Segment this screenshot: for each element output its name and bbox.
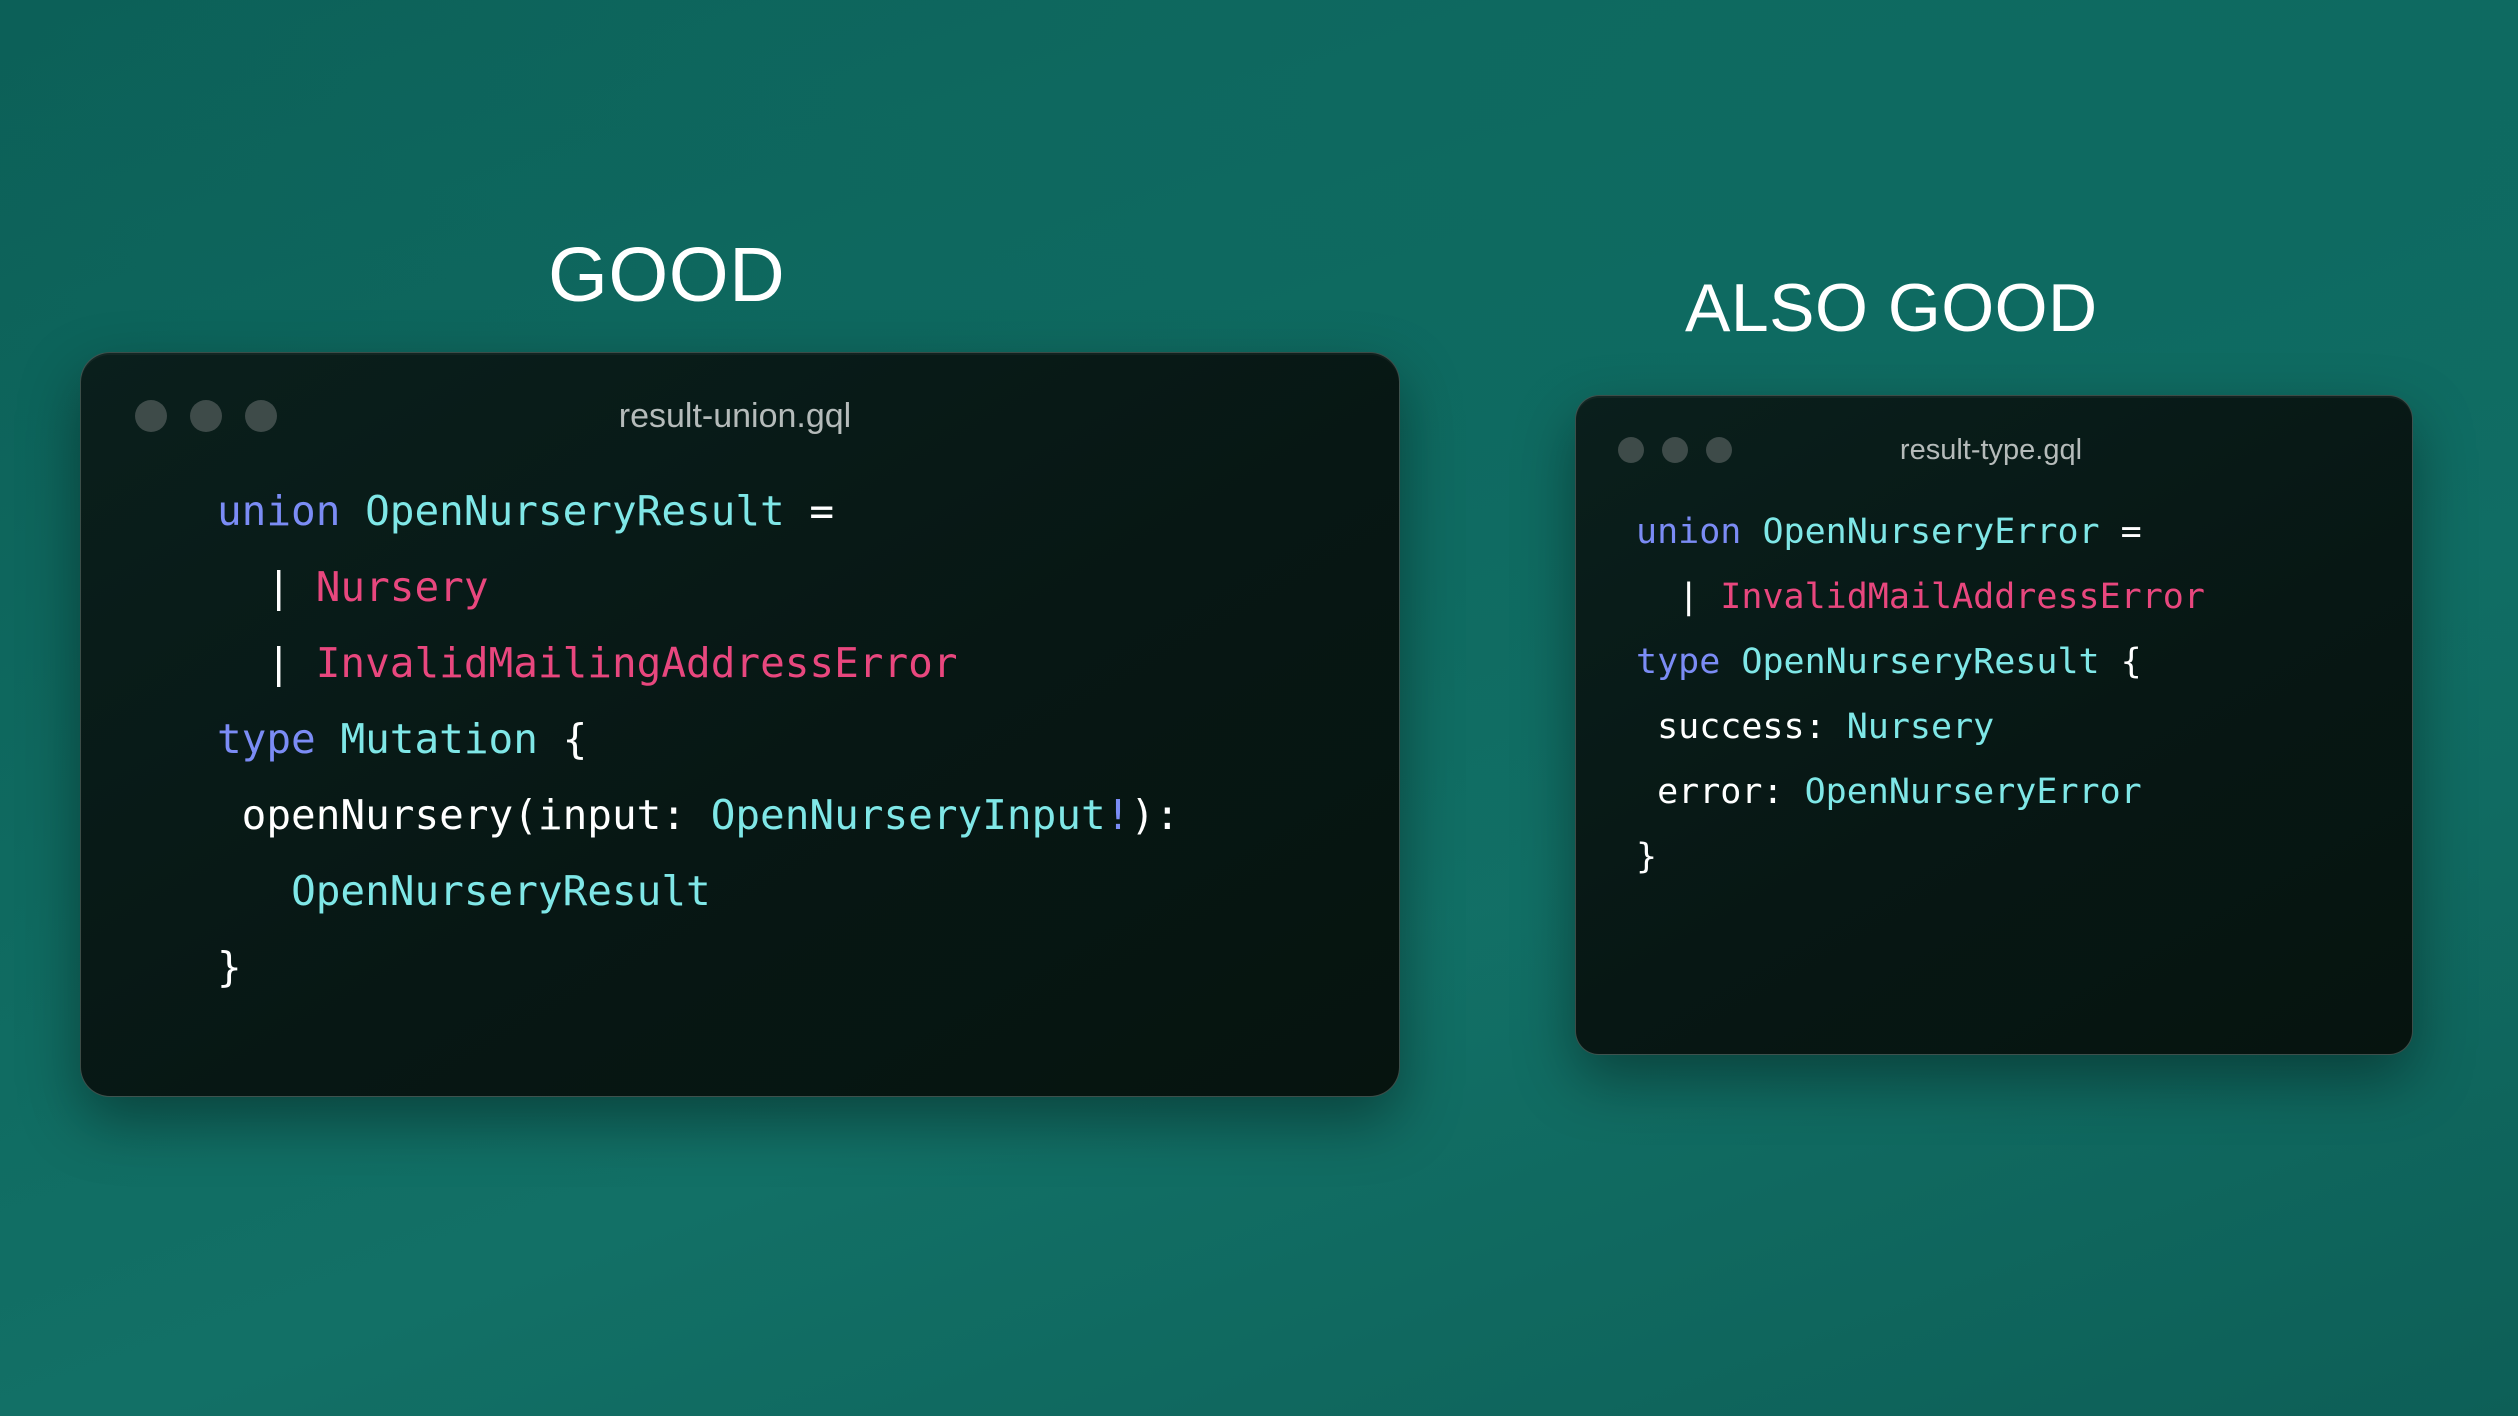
code-token: ! [1106, 791, 1131, 839]
code-token: | [217, 563, 316, 611]
code-token: { [538, 715, 587, 763]
code-token: InvalidMailingAddressError [316, 639, 958, 687]
window-maximize-dot-icon[interactable] [1706, 437, 1732, 463]
code-token: ): [1130, 791, 1179, 839]
code-token: OpenNurseryError [1762, 512, 2099, 552]
code-card-titlebar: result-type.gql [1576, 396, 2412, 504]
panel-heading-good: GOOD [548, 237, 785, 314]
code-line: | InvalidMailAddressError [1636, 565, 2412, 630]
code-line: error: OpenNurseryError [1636, 760, 2412, 825]
code-card-filename: result-union.gql [81, 397, 1399, 436]
code-token: Nursery [316, 563, 489, 611]
code-token [1741, 512, 1762, 552]
window-maximize-dot-icon[interactable] [245, 400, 277, 432]
code-line: | Nursery [217, 549, 1399, 625]
code-token: = [2100, 512, 2142, 552]
code-line: } [217, 929, 1399, 1005]
code-token [1720, 642, 1741, 682]
code-token: openNursery(input: [217, 791, 711, 839]
code-token: | [1636, 577, 1720, 617]
code-token: OpenNurseryResult [365, 487, 785, 535]
code-line: success: Nursery [1636, 695, 2412, 760]
code-token: OpenNurseryInput [711, 791, 1106, 839]
code-token: union [217, 487, 340, 535]
code-card-also-good: result-type.gql union OpenNurseryError =… [1575, 395, 2413, 1055]
code-token: OpenNurseryResult [1741, 642, 2099, 682]
code-token: type [217, 715, 316, 763]
code-token: error: [1636, 772, 1805, 812]
code-token: Mutation [340, 715, 537, 763]
code-token: union [1636, 512, 1741, 552]
code-token: OpenNurseryError [1805, 772, 2142, 812]
code-token: { [2100, 642, 2142, 682]
panel-heading-also-good: ALSO GOOD [1685, 274, 2098, 342]
code-token: type [1636, 642, 1720, 682]
code-line: OpenNurseryResult [217, 853, 1399, 929]
slide-canvas: GOOD result-union.gql union OpenNurseryR… [0, 0, 2518, 1416]
code-line: } [1636, 825, 2412, 890]
code-token: Nursery [1847, 707, 1995, 747]
code-token: } [217, 943, 242, 991]
window-close-dot-icon[interactable] [1618, 437, 1644, 463]
code-line: openNursery(input: OpenNurseryInput!): [217, 777, 1399, 853]
code-line: type OpenNurseryResult { [1636, 630, 2412, 695]
code-card-good: result-union.gql union OpenNurseryResult… [80, 352, 1400, 1097]
code-line: union OpenNurseryResult = [217, 473, 1399, 549]
code-block-also-good: union OpenNurseryError = | InvalidMailAd… [1576, 500, 2412, 890]
code-line: union OpenNurseryError = [1636, 500, 2412, 565]
code-token [217, 867, 291, 915]
code-token: OpenNurseryResult [291, 867, 711, 915]
code-token: InvalidMailAddressError [1720, 577, 2205, 617]
code-line: type Mutation { [217, 701, 1399, 777]
window-close-dot-icon[interactable] [135, 400, 167, 432]
code-card-titlebar: result-union.gql [81, 353, 1399, 479]
code-token: success: [1636, 707, 1847, 747]
code-token: | [217, 639, 316, 687]
window-traffic-lights [1618, 437, 1732, 463]
code-token [316, 715, 341, 763]
code-block-good: union OpenNurseryResult = | Nursery | In… [81, 473, 1399, 1005]
code-token [340, 487, 365, 535]
window-minimize-dot-icon[interactable] [190, 400, 222, 432]
window-traffic-lights [135, 400, 277, 432]
window-minimize-dot-icon[interactable] [1662, 437, 1688, 463]
code-token: = [785, 487, 834, 535]
code-token: } [1636, 837, 1657, 877]
code-line: | InvalidMailingAddressError [217, 625, 1399, 701]
